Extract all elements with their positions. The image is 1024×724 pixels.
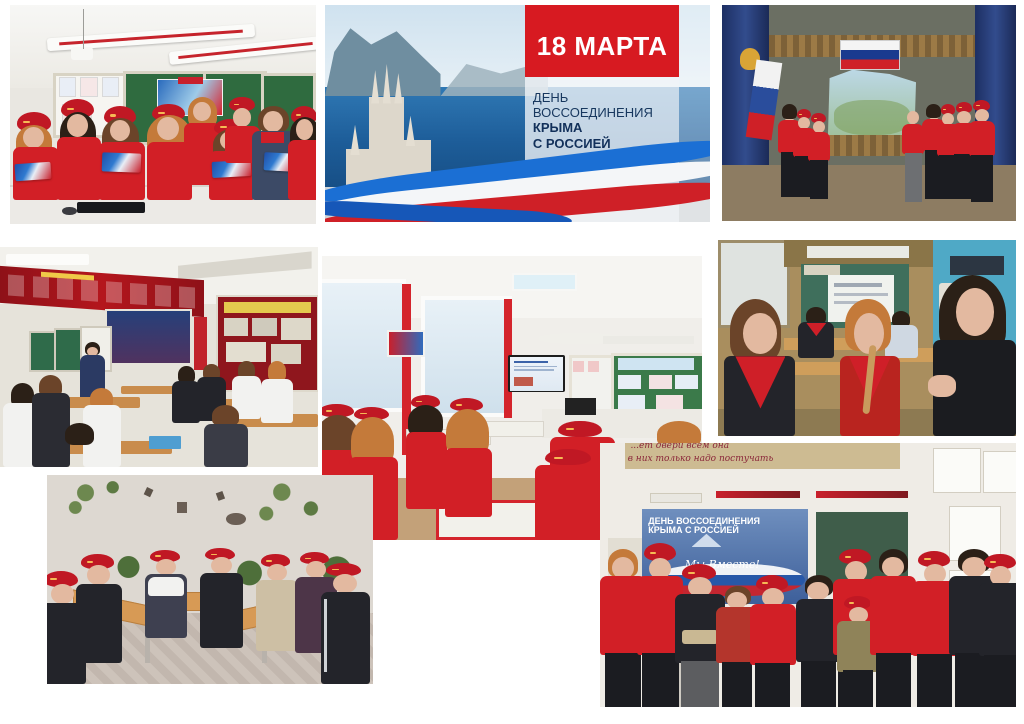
photo-group-projection: ...ет двери всем она в них только надо п…	[600, 443, 1016, 707]
photo-lecture-classroom	[0, 247, 318, 467]
poster-date: 18 МАРТА	[537, 31, 668, 62]
photo-roundtable-berets	[47, 475, 373, 684]
photo-crimea-poster: 18 МАРТА ДЕНЬ ВОССОЕДИНЕНИЯ КРЫМА С РОСС…	[325, 5, 710, 222]
russian-flag-ribbon	[325, 131, 710, 222]
wall-banner-line2: в них только надо постучать	[628, 454, 774, 464]
poster-line1: ДЕНЬ	[533, 90, 568, 105]
photo-stage-performance	[722, 5, 1016, 221]
wall-banner-line1: ...ет двери всем она	[630, 443, 729, 451]
photo-pupils-neckerchiefs	[718, 240, 1016, 436]
photo-classroom-group-posters	[10, 5, 316, 224]
wall-tv	[508, 355, 565, 392]
slide-title: ДЕНЬ ВОССОЕДИНЕНИЯ КРЫМА С РОССИЕЙ	[648, 517, 760, 537]
wall-banner: ...ет двери всем она в них только надо п…	[625, 443, 900, 469]
poster-line2: ВОССОЕДИНЕНИЯ	[533, 105, 653, 120]
photo-collage: 18 МАРТА ДЕНЬ ВОССОЕДИНЕНИЯ КРЫМА С РОСС…	[0, 0, 1024, 724]
